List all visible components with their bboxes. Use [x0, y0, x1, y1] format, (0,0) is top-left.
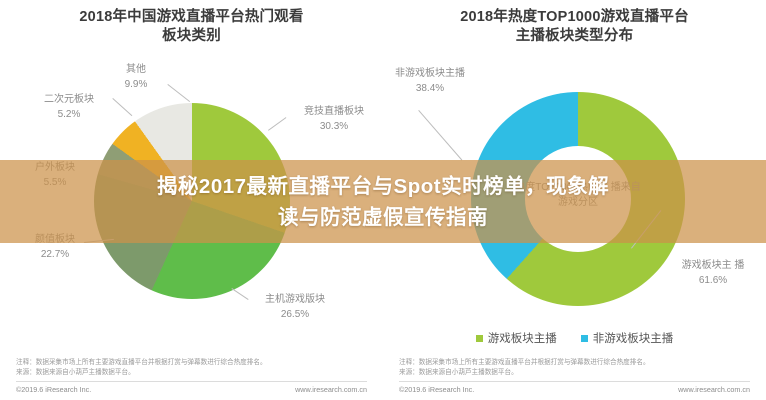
overlay-title-line1: 揭秘2017最新直播平台与Spot实时榜单，现象解 — [157, 171, 609, 202]
left-footer-credits: ©2019.6 iResearch Inc. www.iresearch.com… — [16, 385, 367, 394]
pie-label-acg-name: 二次元板块 — [44, 94, 94, 105]
pie-label-acg: 二次元板块 5.2% — [26, 92, 112, 122]
left-footer: 注释：数据采集市场上所有主要游戏直播平台并根据打赏与弹幕数进行综合热度排名。 来… — [16, 358, 367, 394]
right-footer-credits: ©2019.6 iResearch Inc. www.iresearch.com… — [399, 385, 750, 394]
donut-label-nongame-value: 38.4% — [377, 81, 483, 96]
pie-label-other-name: 其他 — [126, 64, 146, 75]
donut-label-game-value: 61.6% — [671, 273, 755, 288]
pie-label-esports: 竞技直播板块 30.3% — [286, 104, 382, 134]
right-chart-title-line1: 2018年热度TOP1000游戏直播平台 — [460, 9, 689, 25]
pie-label-beauty-value: 22.7% — [14, 247, 96, 262]
leader-line-other — [167, 84, 190, 102]
right-footer-divider — [399, 381, 750, 382]
right-chart-title-line2: 主播板块类型分布 — [383, 27, 766, 46]
legend-item-game[interactable]: 游戏板块主播 — [476, 330, 557, 346]
pie-label-other: 其他 9.9% — [106, 62, 166, 92]
left-chart-title-line1: 2018年中国游戏直播平台热门观看 — [79, 9, 303, 25]
right-footer-note1: 注释：数据采集市场上所有主要游戏直播平台并根据打赏与弹幕数进行综合热度排名。 — [399, 358, 750, 368]
pie-label-acg-value: 5.2% — [26, 107, 112, 122]
donut-label-game-name2: 播 — [734, 260, 744, 271]
right-footer-note2: 来源：数据来源自小葫芦主播数据平台。 — [399, 368, 750, 378]
legend-item-nongame[interactable]: 非游戏板块主播 — [581, 330, 674, 346]
leader-line-nongame — [418, 110, 462, 160]
left-chart-title-line2: 板块类别 — [0, 27, 383, 46]
pie-label-console: 主机游戏版块 26.5% — [246, 292, 344, 322]
donut-label-nongame-name: 非游戏板块主播 — [395, 68, 465, 79]
right-footer: 注释：数据采集市场上所有主要游戏直播平台并根据打赏与弹幕数进行综合热度排名。 来… — [399, 358, 750, 394]
left-chart-title: 2018年中国游戏直播平台热门观看 板块类别 — [0, 8, 383, 46]
right-copyright: ©2019.6 iResearch Inc. — [399, 385, 474, 394]
right-website[interactable]: www.iresearch.com.cn — [678, 385, 750, 394]
infographic-page: 2018年中国游戏直播平台热门观看 板块类别 其他 9.9% 二次元板块 5.2… — [0, 0, 766, 400]
donut-label-nongame: 非游戏板块主播 38.4% — [377, 66, 483, 96]
left-website[interactable]: www.iresearch.com.cn — [295, 385, 367, 394]
left-copyright: ©2019.6 iResearch Inc. — [16, 385, 91, 394]
legend-label-game: 游戏板块主播 — [488, 330, 557, 346]
left-footer-note2: 来源：数据来源自小葫芦主播数据平台。 — [16, 368, 367, 378]
donut-label-game: 游戏板块主 播 61.6% — [671, 258, 755, 288]
pie-label-other-value: 9.9% — [106, 77, 166, 92]
pie-label-esports-name: 竞技直播板块 — [304, 106, 364, 117]
right-chart-legend: 游戏板块主播 非游戏板块主播 — [383, 330, 766, 346]
left-footer-divider — [16, 381, 367, 382]
donut-label-game-name: 游戏板块主 — [682, 260, 732, 271]
pie-label-console-value: 26.5% — [246, 307, 344, 322]
right-chart-title: 2018年热度TOP1000游戏直播平台 主播板块类型分布 — [383, 8, 766, 46]
legend-label-nongame: 非游戏板块主播 — [593, 330, 674, 346]
legend-swatch-game — [476, 335, 483, 342]
overlay-title-line2: 读与防范虚假宣传指南 — [278, 202, 488, 233]
pie-label-esports-value: 30.3% — [286, 119, 382, 134]
legend-swatch-nongame — [581, 335, 588, 342]
overlay-banner-text: 揭秘2017最新直播平台与Spot实时榜单，现象解 读与防范虚假宣传指南 — [0, 163, 766, 241]
left-footer-note1: 注释：数据采集市场上所有主要游戏直播平台并根据打赏与弹幕数进行综合热度排名。 — [16, 358, 367, 368]
pie-label-console-name: 主机游戏版块 — [265, 294, 325, 305]
